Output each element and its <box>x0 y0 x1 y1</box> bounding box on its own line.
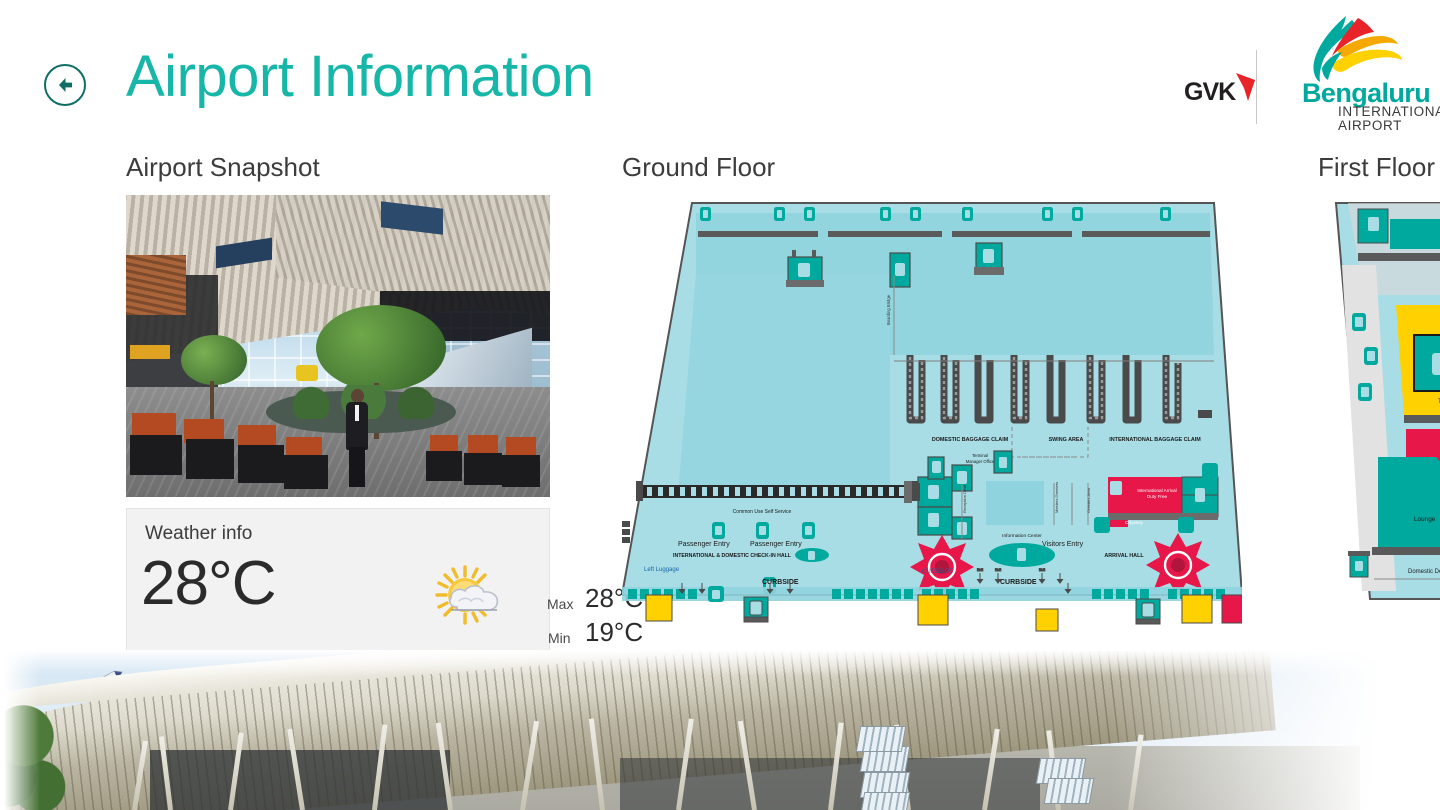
gvk-logo-text: GVK <box>1184 78 1235 107</box>
map-label-domestic-departure: Domestic Departure <box>1408 569 1440 575</box>
map-label-swing-area: SWING AREA <box>1049 437 1084 443</box>
photo-seat <box>130 435 182 475</box>
photo-tree-large <box>316 305 446 391</box>
photo-person <box>344 389 370 485</box>
back-button[interactable] <box>44 64 86 106</box>
photo-seat <box>186 439 234 479</box>
photo-seat <box>238 425 276 447</box>
map-label-checkin-hall: INTERNATIONAL & DOMESTIC CHECK-IN HALL <box>673 553 792 559</box>
terminal-exterior-banner <box>0 650 1440 810</box>
photo-tree-small <box>181 335 247 385</box>
airport-snapshot-image[interactable] <box>126 195 550 497</box>
section-title-ground-floor: Ground Floor <box>622 154 775 180</box>
banner-light-fixture <box>1044 778 1095 804</box>
photo-seat <box>286 437 322 457</box>
logo-divider <box>1256 50 1257 124</box>
banner-light-fixture <box>860 792 911 810</box>
banner-light-fixture <box>856 726 907 752</box>
map-label-information-center: Information Center <box>1002 533 1042 539</box>
map-label-duty-free: International Arrival <box>1137 488 1176 493</box>
photo-seat <box>426 451 462 481</box>
weather-min-label: Min <box>548 631 571 645</box>
map-label-international-baggage-claim: INTERNATIONAL BAGGAGE CLAIM <box>1109 437 1201 443</box>
photo-seat <box>238 445 284 483</box>
svg-text:Exit: Exit <box>1039 568 1045 572</box>
photo-signage <box>130 345 170 359</box>
weather-panel-label: Weather info <box>145 523 252 545</box>
gvk-flag-icon <box>1235 72 1257 102</box>
back-arrow-icon <box>53 73 77 97</box>
map-label-arrival-hall: ARRIVAL HALL <box>1104 553 1144 559</box>
photo-seat <box>464 453 502 485</box>
map-label-domestic-baggage-claim: DOMESTIC BAGGAGE CLAIM <box>932 437 1009 443</box>
photo-seat <box>468 435 498 455</box>
map-label-common-use-self-service: Common Use Self Service <box>733 509 792 515</box>
banner-top-fade <box>0 650 1440 676</box>
section-title-first-floor: First Floor <box>1318 154 1435 180</box>
map-label-terminal-manager-office: Terminal <box>972 453 988 458</box>
page-header: Airport Information GVK Bengaluru INTERN… <box>0 0 1440 140</box>
svg-text:Reception Desk: Reception Desk <box>962 485 967 513</box>
weather-info-panel: Weather info 28°C <box>126 508 550 652</box>
bengaluru-feather-icon <box>1292 14 1404 84</box>
svg-text:Greeters Area: Greeters Area <box>1086 487 1091 513</box>
bengaluru-logo: Bengaluru INTERNATIONAL AIRPORT <box>1276 16 1436 128</box>
svg-text:Meeters Greeters: Meeters Greeters <box>1054 482 1059 513</box>
ground-floor-map-svg: DOMESTIC BAGGAGE CLAIM SWING AREA INTERN… <box>622 195 1242 610</box>
photo-seat <box>506 437 536 457</box>
photo-wood-panel-left <box>126 255 186 315</box>
gvk-logo: GVK <box>1184 76 1262 110</box>
photo-tree-trunk-small <box>210 381 214 421</box>
section-title-snapshot: Airport Snapshot <box>126 154 320 180</box>
first-floor-map[interactable]: Tea Bar Bento Tata eFuel Crossword Loung… <box>1318 195 1440 610</box>
svg-text:Exit: Exit <box>995 568 1001 572</box>
svg-text:Manager Office: Manager Office <box>966 459 995 464</box>
photo-yellow-flowers <box>296 365 318 381</box>
brand-subtitle-2: AIRPORT <box>1338 118 1402 133</box>
weather-current-temperature: 28°C <box>141 553 276 615</box>
map-label-lounge: Lounge <box>1414 516 1436 523</box>
map-label-dim: Boarding Bridge <box>886 294 891 325</box>
airport-logo: GVK Bengaluru INTERNATIONAL AIRPORT <box>1176 14 1436 126</box>
first-floor-map-svg: Tea Bar Bento Tata eFuel Crossword Loung… <box>1318 195 1440 610</box>
ground-floor-map[interactable]: DOMESTIC BAGGAGE CLAIM SWING AREA INTERN… <box>622 195 1242 610</box>
svg-text:Duty Free: Duty Free <box>1147 494 1168 499</box>
photo-seat <box>502 455 540 487</box>
brand-subtitle-1: INTERNATIONAL <box>1338 104 1440 119</box>
sun-behind-cloud-icon <box>433 561 509 633</box>
svg-text:Exit: Exit <box>977 568 983 572</box>
map-label-odyssey: Odyssey <box>1125 520 1144 525</box>
weather-max-label: Max <box>547 597 573 611</box>
ground-floor-curbside-icons <box>622 573 1242 633</box>
photo-seat <box>284 455 328 489</box>
page-title: Airport Information <box>126 48 594 106</box>
